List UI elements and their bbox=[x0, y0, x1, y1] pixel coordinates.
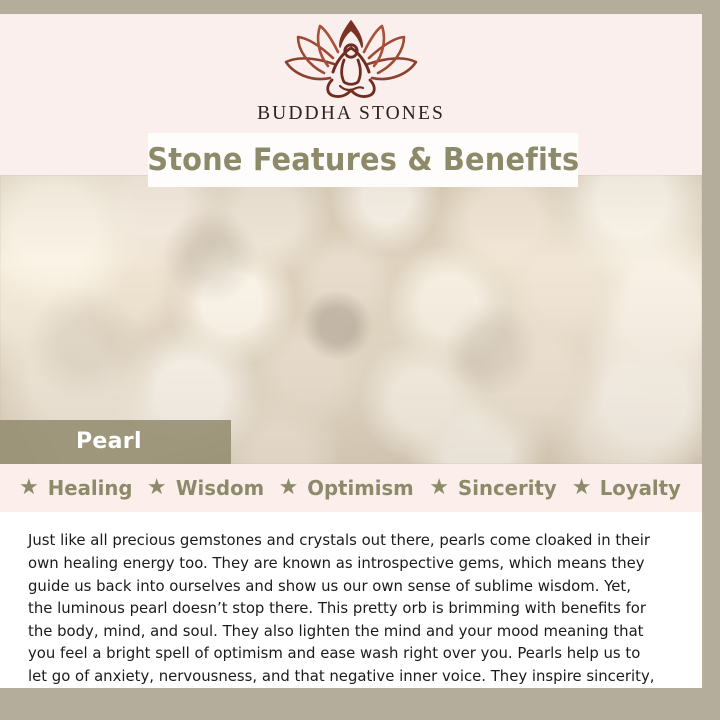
benefit-item-optimism: ★ Optimism bbox=[279, 477, 417, 499]
benefit-label: Loyalty bbox=[600, 478, 681, 499]
star-icon: ★ bbox=[147, 476, 167, 498]
stone-name-label: Pearl bbox=[76, 431, 142, 453]
star-icon: ★ bbox=[19, 476, 39, 498]
description-text: Just like all precious gemstones and cry… bbox=[28, 529, 655, 688]
star-icon: ★ bbox=[279, 476, 299, 498]
infographic-page: BUDDHA STONES Stone Features & Benefits … bbox=[0, 0, 720, 720]
benefits-row: ★ Healing ★ Wisdom ★ Optimism ★ Sincerit… bbox=[0, 464, 702, 512]
brand-name: BUDDHA STONES bbox=[0, 104, 702, 124]
benefit-label: Wisdom bbox=[175, 478, 263, 499]
brand-logo[interactable]: BUDDHA STONES bbox=[0, 18, 702, 124]
star-icon: ★ bbox=[572, 476, 592, 498]
content-card: BUDDHA STONES Stone Features & Benefits … bbox=[0, 14, 702, 688]
benefit-item-sincerity: ★ Sincerity bbox=[429, 477, 558, 499]
lotus-meditation-icon bbox=[276, 18, 426, 100]
benefit-label: Healing bbox=[47, 478, 132, 499]
benefit-item-healing: ★ Healing bbox=[19, 477, 134, 499]
benefit-label: Optimism bbox=[308, 478, 414, 499]
stone-name-band: Pearl bbox=[0, 420, 231, 464]
benefit-item-loyalty: ★ Loyalty bbox=[572, 477, 683, 499]
benefit-item-wisdom: ★ Wisdom bbox=[147, 477, 266, 499]
benefit-label: Sincerity bbox=[458, 478, 557, 499]
star-icon: ★ bbox=[429, 476, 449, 498]
page-title: Stone Features & Benefits bbox=[147, 142, 579, 178]
description-panel: Just like all precious gemstones and cry… bbox=[0, 512, 702, 688]
title-banner: Stone Features & Benefits bbox=[148, 133, 578, 187]
